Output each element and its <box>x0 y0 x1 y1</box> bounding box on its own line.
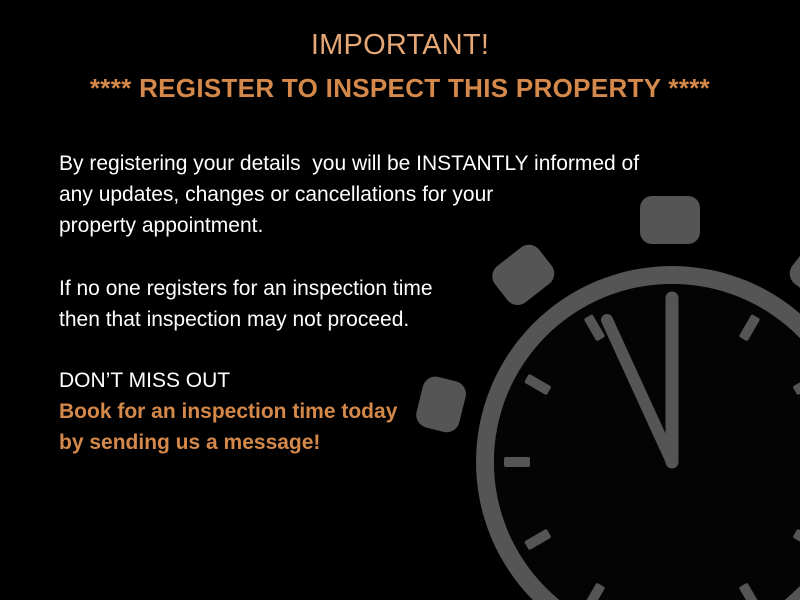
page-title: IMPORTANT! <box>0 30 800 62</box>
headline-register-to-inspect: **** REGISTER TO INSPECT THIS PROPERTY *… <box>0 74 800 104</box>
slide-text-layer: IMPORTANT! **** REGISTER TO INSPECT THIS… <box>0 0 800 600</box>
call-to-action-text: Book for an inspection time today by sen… <box>59 396 397 458</box>
paragraph-registering-details: By registering your details you will be … <box>59 148 639 241</box>
paragraph-no-one-registers: If no one registers for an inspection ti… <box>59 273 433 335</box>
promotional-slide: IMPORTANT! **** REGISTER TO INSPECT THIS… <box>0 0 800 600</box>
line-dont-miss-out: DON’T MISS OUT <box>59 365 230 396</box>
